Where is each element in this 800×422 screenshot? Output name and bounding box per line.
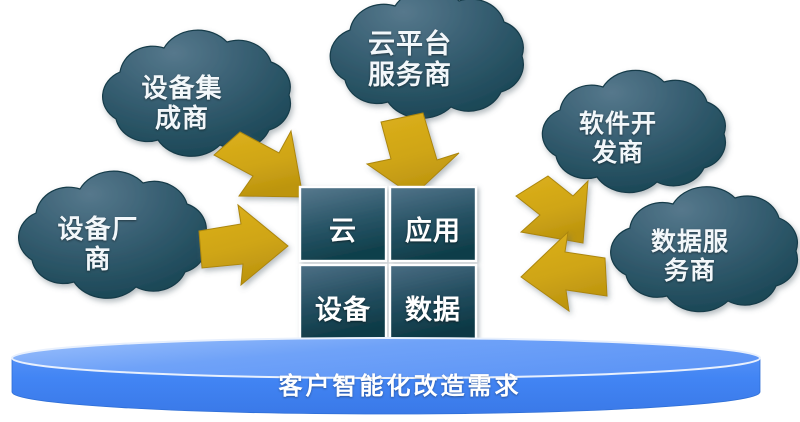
cell-label-device: 设备 [300,288,386,327]
cloud-label-cloud-platform-provider: 云平台 服务商 [330,29,490,91]
cell-label-data: 数据 [390,288,476,327]
cell-label-application: 应用 [390,209,476,248]
cloud-label-data-service-provider: 数据服 务商 [612,228,768,286]
cloud-label-software-developer: 软件开 发商 [540,110,696,168]
cell-label-cloud: 云 [300,209,386,248]
cloud-label-device-manufacturer: 设备厂 商 [18,215,178,275]
label-layer: 设备集 成商 云平台 服务商 软件开 发商 设备厂 商 数据服 务商 云 应用 … [0,0,800,422]
diagram-canvas: 设备集 成商 云平台 服务商 软件开 发商 设备厂 商 数据服 务商 云 应用 … [0,0,800,422]
cloud-label-device-integrator: 设备集 成商 [102,74,262,134]
base-label: 客户智能化改造需求 [0,366,800,401]
